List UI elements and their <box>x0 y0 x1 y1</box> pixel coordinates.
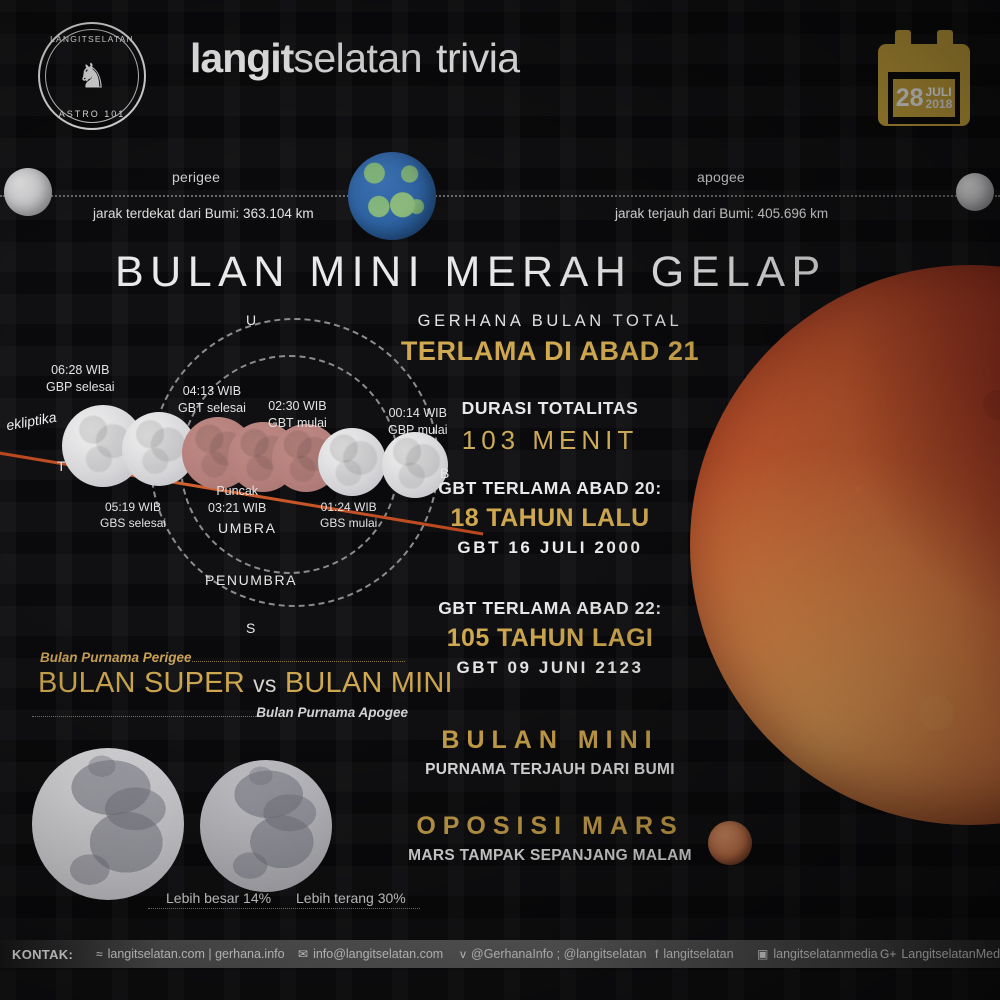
phase-time: 05:19 WIB <box>100 500 166 516</box>
footer-item-text: langitselatan.com | gerhana.info <box>108 947 285 961</box>
phase-time: 02:30 WIB <box>268 398 327 415</box>
calendar-day: 28 <box>896 86 924 111</box>
apogee-label: apogee <box>697 169 745 185</box>
brand-part-selatan: selatan <box>293 35 422 81</box>
red-moon-surface-texture <box>690 265 1000 825</box>
bulan-purnama-perigee-label: Bulan Purnama Perigee <box>40 650 192 665</box>
perigee-apogee-band: perigee jarak terdekat dari Bumi: 363.10… <box>0 150 1000 260</box>
footer-item-text: langitselatan <box>663 947 733 961</box>
caption-lebih-besar: Lebih besar 14% <box>166 890 271 906</box>
axis-label-selatan: S <box>246 620 255 636</box>
umbra-label: UMBRA <box>218 520 277 536</box>
phase-time: 04:13 WIB <box>178 383 246 400</box>
calendar-body: 28 JULI 2018 <box>878 44 970 126</box>
mars-planet-graphic <box>708 821 752 865</box>
durasi-label: DURASI TOTALITAS <box>400 398 700 419</box>
phase-event: GBT selesai <box>178 400 246 417</box>
phase-time: 06:28 WIB <box>46 362 115 379</box>
bulan-mini-title: BULAN MINI <box>400 726 700 755</box>
orbit-dotted-line <box>0 195 1000 197</box>
ecliptic-label: ekliptika <box>5 409 58 434</box>
title-bulan-mini: BULAN MINI <box>285 667 453 699</box>
moon-mare-texture <box>318 428 386 496</box>
footer-item-twitter[interactable]: ᴠ @GerhanaInfo ; @langitselatan <box>460 940 646 968</box>
abad22-value: 105 TAHUN LAGI <box>400 624 700 653</box>
bulan-purnama-apogee-label: Bulan Purnama Apogee <box>256 705 408 720</box>
bulan-mini-subtitle: PURNAMA TERJAUH DARI BUMI <box>400 761 700 779</box>
facebook-icon: f <box>655 948 658 960</box>
moon-mare-texture <box>32 748 184 900</box>
horse-rider-icon: ♞ <box>77 60 107 94</box>
phase-time: 01:24 WIB <box>320 500 377 516</box>
abad20-value: 18 TAHUN LALU <box>400 504 700 533</box>
footer-item-instagram[interactable]: ▣ langitselatanmedia <box>757 940 878 968</box>
fact-block-abad-22: GBT TERLAMA ABAD 22: 105 TAHUN LAGI GBT … <box>400 598 700 678</box>
apogee-moon-graphic <box>956 173 994 211</box>
super-vs-mini-title: BULAN SUPER vs BULAN MINI <box>38 667 453 700</box>
peak-caption: Puncak 03:21 WIB <box>208 483 266 516</box>
perigee-label: perigee <box>172 169 220 185</box>
calendar-year: 2018 <box>926 98 953 110</box>
comparison-caption-rule <box>148 908 420 909</box>
footer-item-googleplus[interactable]: G+ LangitselatanMedia <box>880 940 1000 968</box>
supermoon-comparison-graphic <box>32 748 184 900</box>
footer-item-text: info@langitselatan.com <box>313 947 443 961</box>
footer-item-website[interactable]: ≈ langitselatan.com | gerhana.info <box>96 940 285 968</box>
apogee-distance: jarak terjauh dari Bumi: 405.696 km <box>615 206 828 221</box>
page-title: BULAN MINI MERAH GELAP <box>115 248 827 297</box>
perigee-moon-graphic <box>4 168 52 216</box>
comparison-top-rule <box>192 661 405 662</box>
infographic-canvas: LANGITSELATAN ♞ ASTRO 101 langitselatant… <box>0 0 1000 1000</box>
logo-bottom-text: ASTRO 101 <box>38 109 146 119</box>
langitselatan-logo: LANGITSELATAN ♞ ASTRO 101 <box>38 22 146 130</box>
footer-item-text: LangitselatanMedia <box>901 947 1000 961</box>
oposisi-mars-subtitle: MARS TAMPAK SEPANJANG MALAM <box>400 847 700 865</box>
comparison-bottom-rule <box>32 716 264 717</box>
durasi-value: 103 MENIT <box>400 425 700 456</box>
email-icon: ✉ <box>298 948 308 960</box>
abad20-label: GBT TERLAMA ABAD 20: <box>400 478 700 499</box>
perigee-distance: jarak terdekat dari Bumi: 363.104 km <box>93 206 314 221</box>
phase-caption-gbt-selesai: 04:13 WIB GBT selesai <box>178 383 246 416</box>
phase-caption-gbs-mulai: 01:24 WIB GBS mulai <box>320 500 377 532</box>
eclipsed-red-moon-graphic <box>690 265 1000 825</box>
fact-block-oposisi-mars: OPOSISI MARS MARS TAMPAK SEPANJANG MALAM <box>400 812 700 865</box>
googleplus-icon: G+ <box>880 948 896 960</box>
footer-item-facebook[interactable]: f langitselatan <box>655 940 734 968</box>
calendar-date-icon: 28 JULI 2018 <box>878 30 970 126</box>
earth-graphic <box>348 152 436 240</box>
penumbra-label: PENUMBRA <box>205 572 297 588</box>
gbt-kicker: GERHANA BULAN TOTAL <box>400 312 700 331</box>
peak-time: 03:21 WIB <box>208 500 266 517</box>
title-bulan-super: BULAN SUPER <box>38 667 245 699</box>
fact-block-bulan-mini: BULAN MINI PURNAMA TERJAUH DARI BUMI <box>400 726 700 779</box>
brand-title: langitselatantrivia <box>190 38 520 79</box>
minimoon-comparison-graphic <box>200 760 332 892</box>
phase-event: GBS selesai <box>100 516 166 532</box>
peak-label: Puncak <box>208 483 266 500</box>
footer-item-text: @GerhanaInfo ; @langitselatan <box>471 947 646 961</box>
phase-event: GBS mulai <box>320 516 377 532</box>
abad22-label: GBT TERLAMA ABAD 22: <box>400 598 700 619</box>
axis-label-timur: T <box>57 458 66 474</box>
phase-event: GBT mulai <box>268 415 327 432</box>
axis-label-utara: U <box>246 312 256 328</box>
fact-block-abad-20: GBT TERLAMA ABAD 20: 18 TAHUN LALU GBT 1… <box>400 478 700 558</box>
phase-caption-gbt-mulai: 02:30 WIB GBT mulai <box>268 398 327 431</box>
abad20-date: GBT 16 JULI 2000 <box>400 538 700 558</box>
calendar-inner-frame: 28 JULI 2018 <box>888 72 960 124</box>
contact-footer-bar: KONTAK: ≈ langitselatan.com | gerhana.in… <box>0 940 1000 968</box>
calendar-month-year: JULI 2018 <box>926 86 953 110</box>
title-vs: vs <box>253 671 276 697</box>
phase-event: GBP selesai <box>46 379 115 396</box>
footer-item-text: langitselatanmedia <box>773 947 877 961</box>
fact-block-durasi: DURASI TOTALITAS 103 MENIT <box>400 398 700 456</box>
oposisi-mars-title: OPOSISI MARS <box>400 812 700 841</box>
brand-part-langit: langit <box>190 35 293 81</box>
phase-caption-gbs-selesai: 05:19 WIB GBS selesai <box>100 500 166 532</box>
phase-caption-gbp-selesai: 06:28 WIB GBP selesai <box>46 362 115 395</box>
moon-mare-texture <box>200 760 332 892</box>
kontak-label: KONTAK: <box>12 940 73 968</box>
footer-item-email[interactable]: ✉ info@langitselatan.com <box>298 940 443 968</box>
logo-top-text: LANGITSELATAN <box>38 34 146 44</box>
moon-phase-gbs-mulai <box>318 428 386 496</box>
caption-lebih-terang: Lebih terang 30% <box>296 890 406 906</box>
gbt-headline: TERLAMA DI ABAD 21 <box>400 336 700 367</box>
fact-block-gbt-terlama: GERHANA BULAN TOTAL TERLAMA DI ABAD 21 <box>400 312 700 367</box>
calendar-screen: 28 JULI 2018 <box>893 79 955 117</box>
header: LANGITSELATAN ♞ ASTRO 101 langitselatant… <box>0 0 1000 150</box>
rss-icon: ≈ <box>96 948 103 960</box>
instagram-icon: ▣ <box>757 948 768 960</box>
twitter-icon: ᴠ <box>460 948 466 960</box>
brand-part-trivia: trivia <box>436 35 520 81</box>
